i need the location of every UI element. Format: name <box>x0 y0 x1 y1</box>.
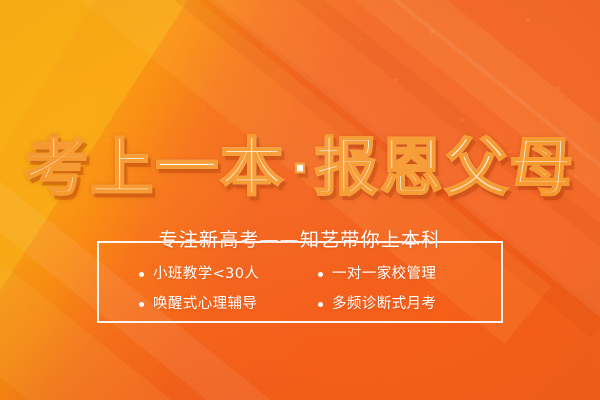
feature-item: 多频诊断式月考 <box>300 292 483 316</box>
headline-container: 考上一本·报恩父母 <box>0 136 600 199</box>
headline-part-1: 考上一本 <box>25 131 285 204</box>
feature-item: 小班教学<30人 <box>117 262 300 286</box>
headline-separator-dot: · <box>285 141 314 195</box>
headline-part-2: 报恩父母 <box>315 131 575 204</box>
feature-label: 小班教学<30人 <box>153 262 259 286</box>
feature-label: 一对一家校管理 <box>332 262 436 286</box>
feature-list: 小班教学<30人 一对一家校管理 唤醒式心理辅导 多频诊断式月考 <box>97 262 503 316</box>
feature-label: 多频诊断式月考 <box>332 292 436 316</box>
promo-banner: 考上一本·报恩父母 专注新高考——知艺带你上本科 小班教学<30人 一对一家校管… <box>0 0 600 400</box>
bullet-icon <box>318 272 323 277</box>
subtitle-container: 专注新高考——知艺带你上本科 <box>0 229 600 251</box>
bullet-icon <box>318 302 323 307</box>
headline: 考上一本·报恩父母 <box>25 136 574 199</box>
feature-label: 唤醒式心理辅导 <box>153 292 257 316</box>
feature-item: 一对一家校管理 <box>300 262 483 286</box>
subtitle: 专注新高考——知艺带你上本科 <box>146 229 455 251</box>
bullet-icon <box>139 302 144 307</box>
feature-item: 唤醒式心理辅导 <box>117 292 300 316</box>
bullet-icon <box>139 272 144 277</box>
